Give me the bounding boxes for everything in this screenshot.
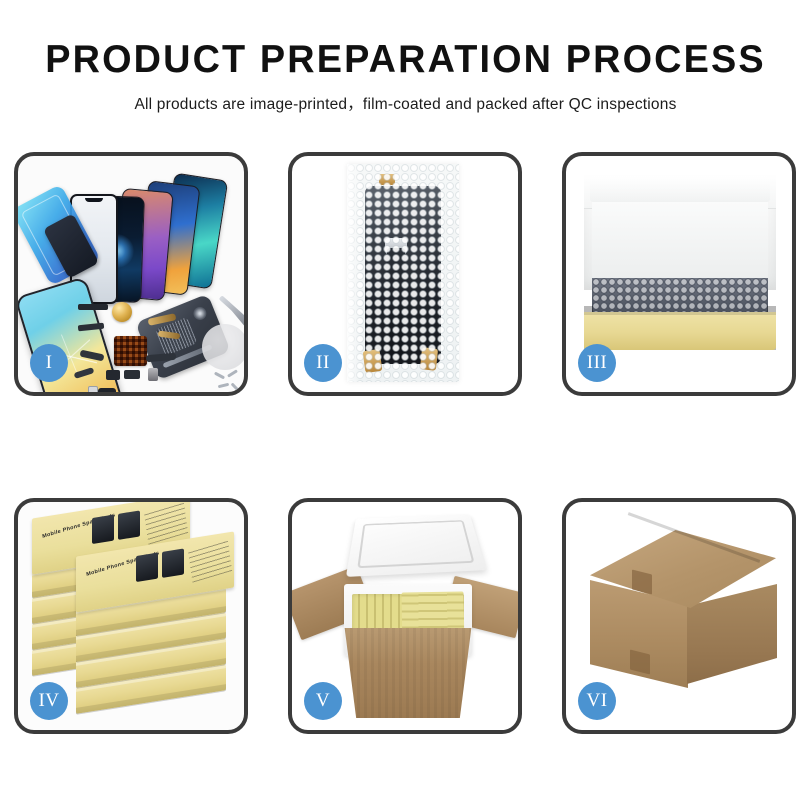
- step-panel-3: III: [562, 152, 796, 396]
- earpiece-part: [78, 304, 108, 310]
- sim-tray-part: [88, 386, 98, 392]
- bubble-texture: [347, 164, 459, 382]
- step-panel-6: VI: [562, 498, 796, 734]
- box-thumb-back-2: [118, 510, 140, 539]
- bubble-wrap-bag: [347, 164, 459, 382]
- box-spec-lines-back: [144, 502, 188, 545]
- step-panel-1: I: [14, 152, 248, 396]
- carton-tape-upper: [632, 570, 652, 595]
- foam-box-lid: [346, 514, 487, 577]
- vibrator-part: [98, 388, 116, 392]
- box-thumb-back-1: [92, 515, 114, 544]
- step-panel-2: II: [288, 152, 522, 396]
- connector-part-g: [106, 370, 120, 380]
- connector-part-h: [124, 370, 140, 379]
- steps-grid: I II: [0, 0, 811, 811]
- step-panel-4: Mobile Phone Spare Parts Mobile Phone Sp…: [14, 498, 248, 734]
- carton-body: [336, 628, 480, 718]
- step-badge-2: II: [304, 344, 342, 382]
- camera-part: [191, 305, 208, 322]
- box-thumb-front-2: [162, 548, 184, 577]
- step-badge-5: V: [304, 682, 342, 720]
- notch: [85, 198, 103, 202]
- box-thumb-front-1: [136, 553, 158, 582]
- bag-fold-highlight: [347, 164, 361, 382]
- speaker-part: [112, 302, 132, 322]
- step-badge-6: VI: [578, 682, 616, 720]
- button-part-i: [148, 368, 158, 381]
- step-panel-5: V: [288, 498, 522, 734]
- phone-fan: [70, 174, 240, 294]
- step-badge-4: IV: [30, 682, 68, 720]
- box-spec-lines-front: [188, 538, 232, 583]
- step-badge-1: I: [30, 344, 68, 382]
- hand-blur: [202, 324, 244, 370]
- screws-group: [214, 372, 244, 392]
- product-preparation-infographic: PRODUCT PREPARATION PROCESS All products…: [0, 0, 811, 811]
- inner-box-wall: [592, 202, 768, 280]
- step-badge-3: III: [578, 344, 616, 382]
- chip-grid-part: [114, 336, 147, 366]
- kraft-box-front: [584, 312, 776, 350]
- bubble-wrapped-contents: [592, 278, 768, 314]
